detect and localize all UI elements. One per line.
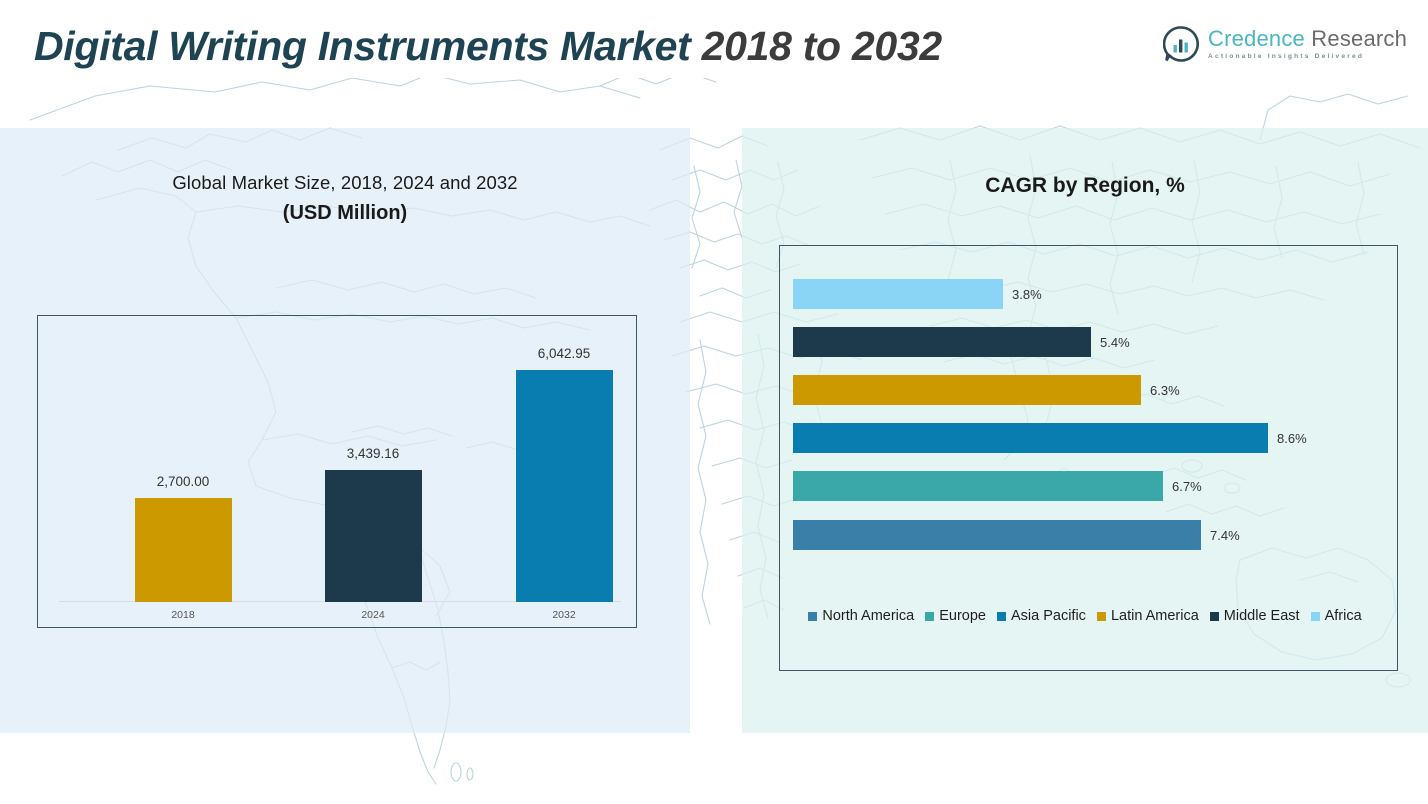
legend-label: Middle East xyxy=(1224,608,1300,624)
cagr-value-label: 5.4% xyxy=(1100,335,1130,350)
legend-label: Asia Pacific xyxy=(1011,608,1086,624)
legend-swatch-icon xyxy=(808,612,817,621)
legend-swatch-icon xyxy=(997,612,1006,621)
bar-group-2018: 2,700.002018 xyxy=(135,498,232,602)
right-chart-title: CAGR by Region, % xyxy=(742,174,1428,198)
legend-item-latin-america[interactable]: Latin America xyxy=(1097,608,1199,624)
bar-value-label: 2,700.00 xyxy=(157,474,210,489)
left-chart-title-line1: Global Market Size, 2018, 2024 and 2032 xyxy=(0,172,690,194)
legend-label: Latin America xyxy=(1111,608,1199,624)
logo-title: Credence Research xyxy=(1208,28,1407,50)
legend-item-middle-east[interactable]: Middle East xyxy=(1210,608,1300,624)
cagr-row-north-america: 7.4% xyxy=(793,520,1240,550)
legend-swatch-icon xyxy=(925,612,934,621)
cagr-bar-middle-east[interactable] xyxy=(793,327,1091,357)
cagr-row-latin-america: 6.3% xyxy=(793,375,1180,405)
bar-category-label: 2032 xyxy=(552,609,575,621)
cagr-bar-north-america[interactable] xyxy=(793,520,1201,550)
logo-text-block: Credence Research Actionable Insights De… xyxy=(1208,28,1407,61)
bar-category-label: 2018 xyxy=(171,609,194,621)
page-title: Digital Writing Instruments Market 2018 … xyxy=(34,23,942,70)
cagr-bar-africa[interactable] xyxy=(793,279,1003,309)
cagr-value-label: 3.8% xyxy=(1012,287,1042,302)
legend-swatch-icon xyxy=(1210,612,1219,621)
cagr-legend: North AmericaEuropeAsia PacificLatin Ame… xyxy=(779,608,1398,624)
cagr-row-asia-pacific: 8.6% xyxy=(793,423,1307,453)
left-chart-title: Global Market Size, 2018, 2024 and 2032 … xyxy=(0,172,690,225)
logo-tagline: Actionable Insights Delivered xyxy=(1208,54,1407,61)
bar-value-label: 6,042.95 xyxy=(538,346,591,361)
legend-label: North America xyxy=(822,608,914,624)
legend-item-north-america[interactable]: North America xyxy=(808,608,914,624)
legend-item-asia-pacific[interactable]: Asia Pacific xyxy=(997,608,1086,624)
bar-category-label: 2024 xyxy=(361,609,384,621)
header: Digital Writing Instruments Market 2018 … xyxy=(0,0,1428,128)
credence-research-logo[interactable]: Credence Research Actionable Insights De… xyxy=(1163,26,1407,62)
page-title-years: 2018 to 2032 xyxy=(691,23,942,69)
legend-swatch-icon xyxy=(1311,612,1320,621)
left-chart-title-line2: (USD Million) xyxy=(0,202,690,225)
bar-value-label: 3,439.16 xyxy=(347,446,400,461)
cagr-bar-latin-america[interactable] xyxy=(793,375,1141,405)
logo-brand-credence: Credence xyxy=(1208,26,1305,51)
cagr-row-europe: 6.7% xyxy=(793,471,1202,501)
cagr-bar-europe[interactable] xyxy=(793,471,1163,501)
page-title-main: Digital Writing Instruments Market xyxy=(34,23,691,69)
legend-item-africa[interactable]: Africa xyxy=(1311,608,1362,624)
bar-group-2024: 3,439.162024 xyxy=(325,470,422,602)
legend-label: Europe xyxy=(939,608,986,624)
credence-chart-bubble-logo-icon xyxy=(1163,26,1199,62)
bar-2032[interactable] xyxy=(516,370,613,602)
legend-label: Africa xyxy=(1325,608,1362,624)
global-market-size-bar-chart: 2,700.0020183,439.1620246,042.952032 xyxy=(37,315,637,628)
cagr-value-label: 6.3% xyxy=(1150,383,1180,398)
cagr-value-label: 8.6% xyxy=(1277,431,1307,446)
cagr-row-africa: 3.8% xyxy=(793,279,1042,309)
logo-brand-research: Research xyxy=(1305,26,1407,51)
cagr-value-label: 7.4% xyxy=(1210,528,1240,543)
bar-2018[interactable] xyxy=(135,498,232,602)
cagr-bar-asia-pacific[interactable] xyxy=(793,423,1268,453)
bar-group-2032: 6,042.952032 xyxy=(516,370,613,602)
bar-2024[interactable] xyxy=(325,470,422,602)
legend-swatch-icon xyxy=(1097,612,1106,621)
cagr-by-region-bar-chart: 3.8%5.4%6.3%8.6%6.7%7.4% North AmericaEu… xyxy=(779,245,1398,671)
legend-item-europe[interactable]: Europe xyxy=(925,608,986,624)
cagr-value-label: 6.7% xyxy=(1172,479,1202,494)
infographic-root: Digital Writing Instruments Market 2018 … xyxy=(0,0,1428,804)
cagr-row-middle-east: 5.4% xyxy=(793,327,1130,357)
